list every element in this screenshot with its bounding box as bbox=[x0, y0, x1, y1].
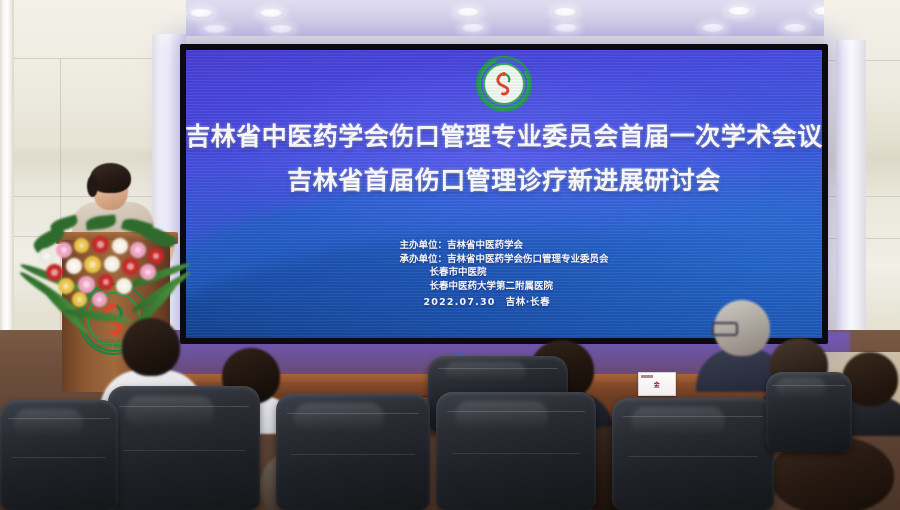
name-card-header-mark bbox=[641, 375, 653, 378]
led-screen[interactable]: 吉林省中医药学会 吉林省中医药学会伤口管理专业委员会首届一次学术会议 吉林省首届… bbox=[186, 50, 822, 338]
credits-host-row: 承办单位：吉林省中医药学会伤口管理专业委员会 bbox=[399, 253, 608, 267]
credits-organizer-row: 主办单位：吉林省中医药学会 bbox=[399, 239, 608, 253]
association-emblem-icon: 吉林省中医药学会 bbox=[476, 56, 532, 112]
screen-credits-block: 主办单位：吉林省中医药学会 承办单位：吉林省中医药学会伤口管理专业委员会 长春市… bbox=[399, 239, 608, 310]
ceiling-downlight bbox=[188, 9, 214, 18]
ceiling-downlight bbox=[553, 24, 579, 33]
ceiling-downlight bbox=[700, 24, 726, 33]
credits-date-row: 2022.07.30吉林·长春 bbox=[399, 296, 608, 310]
screen-title-line-2: 吉林省首届伤口管理诊疗新进展研讨会 bbox=[287, 161, 721, 197]
credits-host-extra-2: 长春中医药大学第二附属医院 bbox=[399, 280, 608, 294]
credits-organizer-label: 主办单位： bbox=[399, 240, 447, 251]
wall-pilaster bbox=[0, 0, 14, 340]
audience-chair[interactable] bbox=[276, 394, 430, 510]
wall-pilaster bbox=[836, 40, 866, 370]
eyeglasses-icon bbox=[712, 322, 738, 336]
credits-location: 吉林·长春 bbox=[506, 297, 551, 308]
ceiling-downlight bbox=[258, 9, 284, 18]
caduceus-symbol-icon bbox=[490, 70, 518, 98]
ceiling-downlight bbox=[268, 25, 294, 34]
name-card: 金 bbox=[638, 372, 676, 396]
emblem-top-text: 吉林省中医药学会 bbox=[476, 58, 532, 64]
credits-host-label: 承办单位： bbox=[399, 254, 447, 265]
credits-organizer-value: 吉林省中医药学会 bbox=[447, 240, 523, 251]
audience-chair[interactable] bbox=[766, 372, 852, 452]
audience-chair[interactable] bbox=[0, 400, 118, 510]
ceiling-tint bbox=[150, 0, 850, 40]
ceiling-downlight bbox=[552, 8, 578, 17]
credits-host-extra-1: 长春市中医院 bbox=[399, 266, 608, 280]
ceiling-downlight bbox=[202, 25, 228, 34]
credits-host-value: 吉林省中医药学会伤口管理专业委员会 bbox=[447, 254, 609, 265]
ceiling-downlight bbox=[455, 8, 481, 17]
ceiling-downlight bbox=[726, 7, 752, 16]
audience-chair[interactable] bbox=[612, 398, 774, 510]
audience-chair[interactable] bbox=[436, 392, 596, 510]
credits-date: 2022.07.30 bbox=[423, 297, 495, 308]
ceiling-downlight bbox=[782, 24, 808, 33]
screen-title-line-1: 吉林省中医药学会伤口管理专业委员会首届一次学术会议 bbox=[186, 117, 822, 153]
floral-arrangement bbox=[22, 212, 190, 332]
ceiling-downlight bbox=[460, 24, 486, 33]
speaker-hair bbox=[90, 163, 131, 193]
audience-chair[interactable] bbox=[108, 386, 260, 510]
conference-photo-scene: 吉林省中医药学会 吉林省中医药学会伤口管理专业委员会首届一次学术会议 吉林省首届… bbox=[0, 0, 900, 510]
name-card-text: 金 bbox=[654, 380, 661, 389]
